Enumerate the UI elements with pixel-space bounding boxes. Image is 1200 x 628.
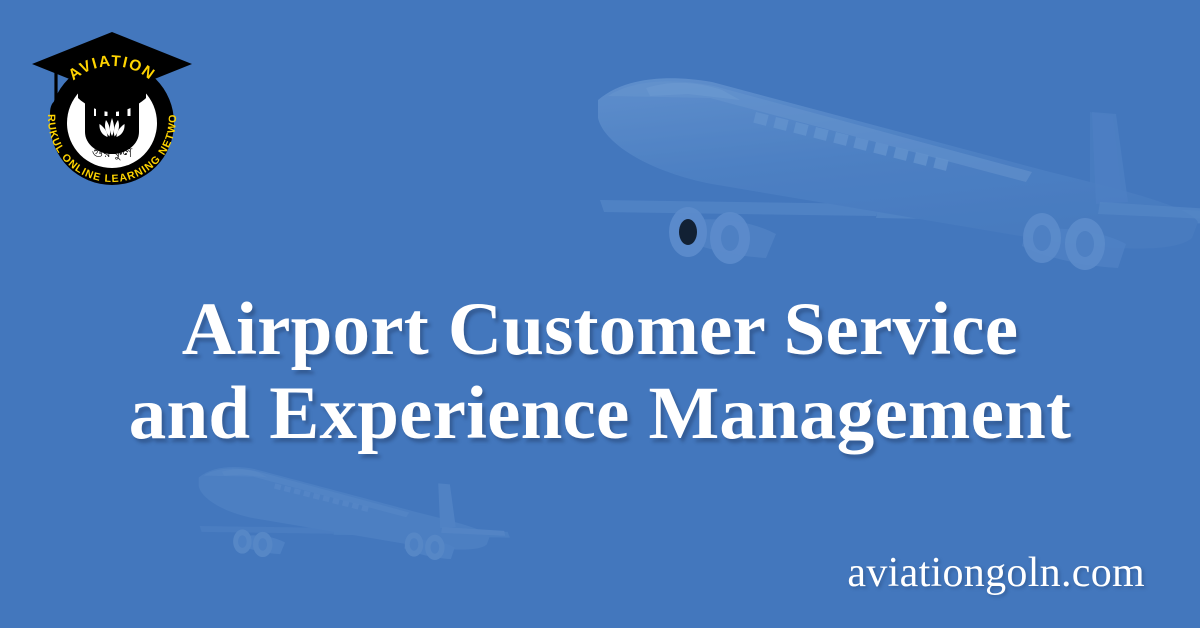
logo-script-text: গুরুকুল (92, 145, 133, 161)
page-title-line-2: and Experience Management (0, 372, 1200, 456)
site-logo[interactable]: গুরুকুল AVIATION GURUKUL ONLINE LEARNING… (22, 20, 202, 200)
page-title-line-1: Airport Customer Service (0, 288, 1200, 372)
banner-canvas: গুরুকুল AVIATION GURUKUL ONLINE LEARNING… (0, 0, 1200, 628)
page-title: Airport Customer Service and Experience … (0, 288, 1200, 456)
website-url[interactable]: aviationgoln.com (847, 548, 1145, 598)
airplane-silhouette-small-icon (190, 437, 510, 617)
